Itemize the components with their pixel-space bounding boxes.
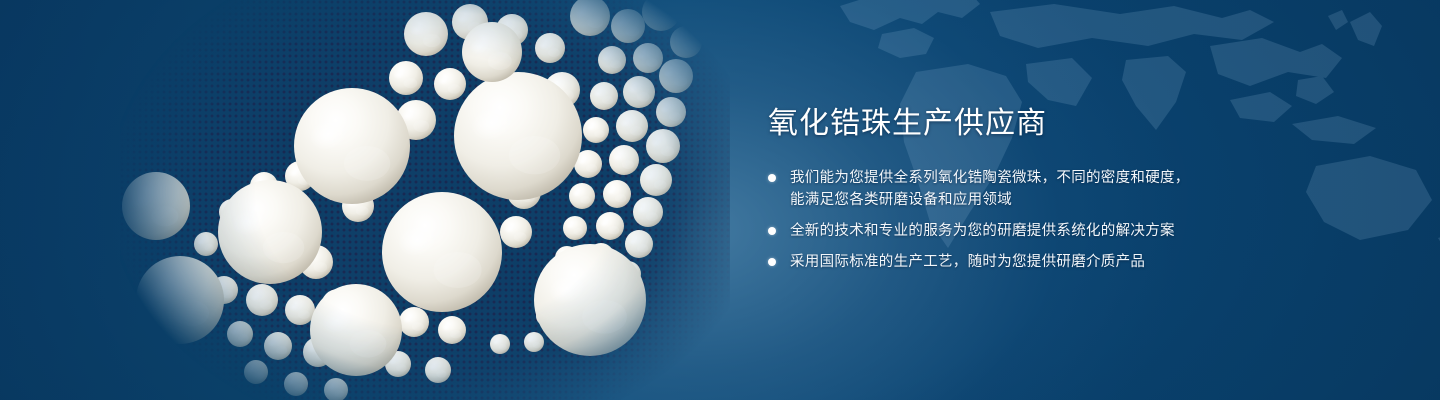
page-title: 氧化锆珠生产供应商 <box>768 104 1328 144</box>
banner-copy: 氧化锆珠生产供应商 我们能为您提供全系列氧化锆陶瓷微珠，不同的密度和硬度， 能满… <box>768 104 1328 273</box>
hero-banner: 氧化锆珠生产供应商 我们能为您提供全系列氧化锆陶瓷微珠，不同的密度和硬度， 能满… <box>0 0 1440 400</box>
list-item: 全新的技术和专业的服务为您的研磨提供系统化的解决方案 <box>768 220 1328 242</box>
list-item: 采用国际标准的生产工艺，随时为您提供研磨介质产品 <box>768 251 1328 273</box>
bullet-dot-icon <box>768 258 776 266</box>
bullet-dot-icon <box>768 227 776 235</box>
feature-list: 我们能为您提供全系列氧化锆陶瓷微珠，不同的密度和硬度， 能满足您各类研磨设备和应… <box>768 167 1328 273</box>
list-item-line1: 采用国际标准的生产工艺，随时为您提供研磨介质产品 <box>790 254 1145 270</box>
list-item: 我们能为您提供全系列氧化锆陶瓷微珠，不同的密度和硬度， 能满足您各类研磨设备和应… <box>768 167 1328 211</box>
list-item-line1: 全新的技术和专业的服务为您的研磨提供系统化的解决方案 <box>790 223 1175 239</box>
bullet-dot-icon <box>768 174 776 182</box>
list-item-line2: 能满足您各类研磨设备和应用领域 <box>790 189 1328 211</box>
list-item-line1: 我们能为您提供全系列氧化锆陶瓷微珠，不同的密度和硬度， <box>790 170 1190 186</box>
